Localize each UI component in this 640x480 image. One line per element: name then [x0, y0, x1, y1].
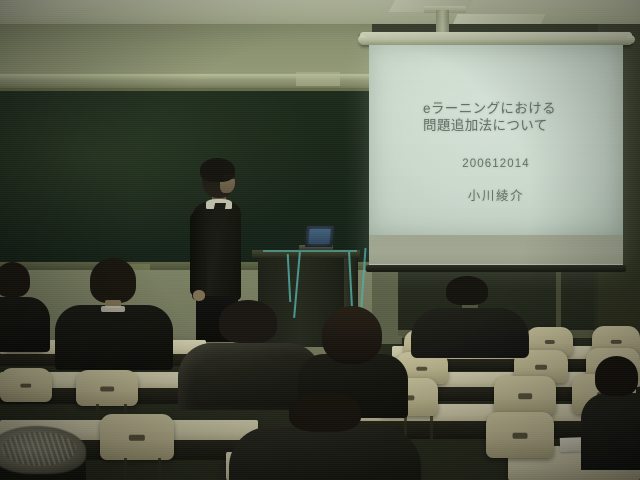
person-torso — [411, 308, 529, 358]
audience-member-fur-hood — [0, 418, 106, 480]
chair-leg — [124, 458, 127, 480]
person-torso — [0, 297, 50, 352]
slide-content: eラーニングにおける 問題追加法について 200612014 小川綾介 — [369, 45, 623, 235]
person-head — [0, 262, 30, 297]
slide-title-line-2: 問題追加法について — [423, 117, 613, 134]
cable-horizontal — [263, 250, 357, 252]
screen-knob-left — [358, 35, 367, 44]
audience-member — [592, 356, 640, 480]
fur-hood-texture — [2, 432, 76, 466]
screen-bottom-bar — [366, 265, 626, 272]
person-head — [289, 392, 361, 432]
slide-title-line-1: eラーニングにおける — [423, 100, 613, 117]
chair — [0, 368, 52, 402]
chair-leg — [158, 458, 161, 480]
presenter-arm — [190, 210, 207, 296]
slide-student-id: 200612014 — [369, 158, 623, 170]
glasses-icon — [223, 175, 235, 179]
chair — [486, 412, 554, 458]
chair-leg — [430, 416, 433, 440]
chair — [76, 370, 138, 406]
screen-dim-band — [369, 235, 623, 264]
audience-member — [68, 258, 160, 364]
audience-member — [250, 392, 400, 480]
person-head — [90, 258, 136, 303]
person-head — [219, 300, 277, 343]
chair — [494, 376, 556, 415]
person-torso — [229, 427, 421, 480]
person-collar — [101, 306, 125, 312]
screen-knob-right — [626, 35, 635, 44]
chair — [100, 414, 174, 460]
person-torso — [55, 305, 173, 371]
person-head — [595, 356, 638, 396]
wall-band-segment — [296, 72, 340, 86]
wall-pipe — [556, 268, 561, 334]
laptop-screen — [308, 229, 330, 244]
screen-housing — [360, 32, 632, 45]
audience-member — [424, 276, 516, 356]
slide-title: eラーニングにおける 問題追加法について — [423, 100, 613, 134]
lecture-hall-photo: eラーニングにおける 問題追加法について 200612014 小川綾介 — [0, 0, 640, 480]
person-torso — [581, 393, 640, 470]
audience-member — [0, 262, 42, 350]
person-head — [446, 276, 488, 305]
person-head — [322, 306, 382, 364]
slide-presenter-name: 小川綾介 — [369, 185, 623, 204]
